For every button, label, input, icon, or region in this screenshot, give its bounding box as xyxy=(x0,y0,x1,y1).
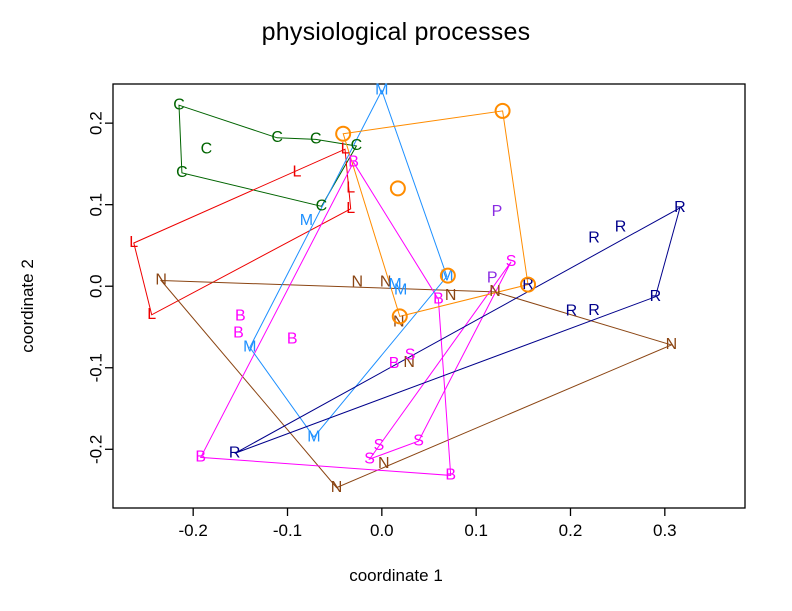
data-point-r: R xyxy=(588,229,600,246)
data-point-l: L xyxy=(292,163,301,180)
data-point-m: M xyxy=(394,282,407,299)
data-point-m: M xyxy=(243,339,256,356)
data-point-r: R xyxy=(588,302,600,319)
data-point-n: N xyxy=(352,273,364,290)
data-point-n: N xyxy=(331,479,343,496)
data-point-c: C xyxy=(173,96,185,113)
data-point-b: B xyxy=(287,330,298,347)
y-tick-label: -0.2 xyxy=(86,435,105,464)
data-point-b: B xyxy=(445,467,456,484)
y-tick-label: 0.0 xyxy=(86,274,105,298)
data-point-m: M xyxy=(300,212,313,229)
data-point-l: L xyxy=(129,234,138,251)
data-point-l: L xyxy=(346,180,355,197)
data-point-b: B xyxy=(348,153,359,170)
data-point-s: S xyxy=(506,253,517,270)
data-point-c: C xyxy=(271,129,283,146)
data-point-r: R xyxy=(650,288,662,305)
x-tick-label: -0.2 xyxy=(179,521,208,540)
data-point-c: C xyxy=(351,137,363,154)
data-point-o xyxy=(391,181,405,195)
data-point-l: L xyxy=(346,200,355,217)
y-tick-label: 0.1 xyxy=(86,193,105,217)
data-point-b: B xyxy=(195,449,206,466)
x-tick-label: 0.1 xyxy=(464,521,488,540)
data-point-r: R xyxy=(615,219,627,236)
data-point-c: C xyxy=(176,164,188,181)
data-point-c: C xyxy=(310,131,322,148)
data-point-b: B xyxy=(433,290,444,307)
x-tick-label: -0.1 xyxy=(273,521,302,540)
hull-polygon-r xyxy=(235,208,680,454)
data-point-l: L xyxy=(147,306,156,323)
hull-polygon-l xyxy=(134,149,351,315)
data-point-r: R xyxy=(566,303,578,320)
data-point-p: P xyxy=(492,203,503,220)
data-point-s: S xyxy=(413,432,424,449)
data-point-s: S xyxy=(405,347,416,364)
scatter-plot: -0.2-0.10.00.10.20.30.20.10.0-0.1-0.2 CC… xyxy=(0,0,792,611)
data-point-c: C xyxy=(316,198,328,215)
x-tick-label: 0.3 xyxy=(653,521,677,540)
chart-page: physiological processes coordinate 1 coo… xyxy=(0,0,792,611)
data-point-n: N xyxy=(445,287,457,304)
data-point-n: N xyxy=(155,272,167,289)
data-point-p: P xyxy=(487,269,498,286)
data-point-b: B xyxy=(389,355,400,372)
data-point-m: M xyxy=(375,82,388,99)
data-point-m: M xyxy=(307,428,320,445)
data-point-r: R xyxy=(229,445,241,462)
data-point-b: B xyxy=(235,308,246,325)
data-point-n: N xyxy=(666,336,678,353)
x-tick-label: 0.2 xyxy=(559,521,583,540)
y-tick-label: -0.1 xyxy=(86,353,105,382)
y-tick-label: 0.2 xyxy=(86,111,105,135)
data-point-s: S xyxy=(374,437,385,454)
x-tick-label: 0.0 xyxy=(370,521,394,540)
data-point-n: N xyxy=(378,455,390,472)
data-point-c: C xyxy=(201,140,213,157)
data-point-r: R xyxy=(674,199,686,216)
